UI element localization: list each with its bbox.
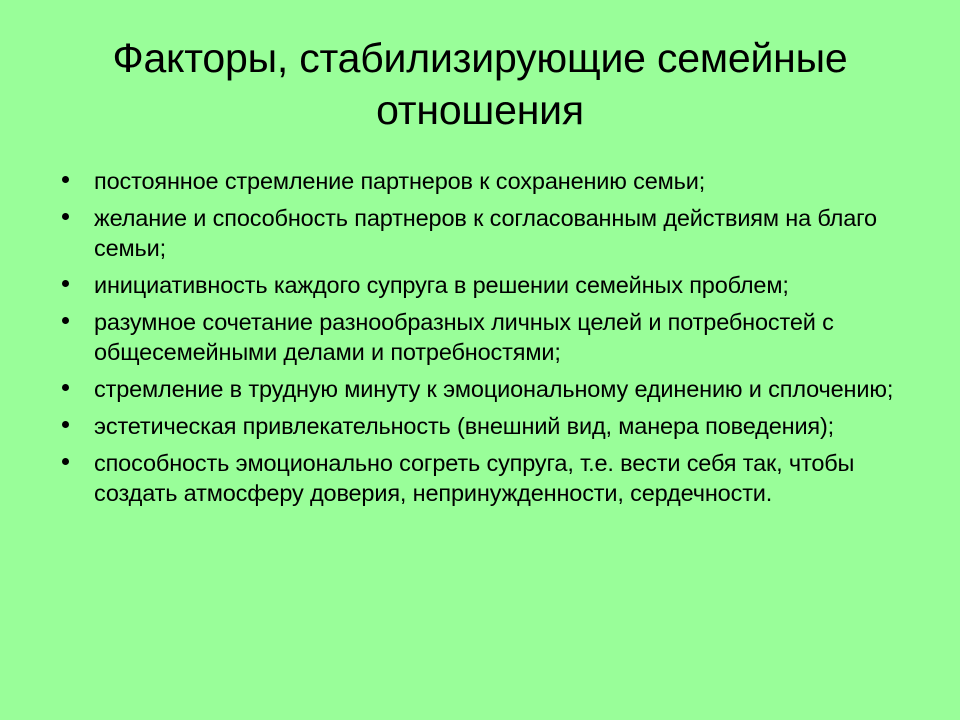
bullet-list: постоянное стремление партнеров к сохран… <box>56 166 912 515</box>
list-item-text: способность эмоционально согреть супруга… <box>94 448 912 508</box>
list-item: желание и способность партнеров к соглас… <box>56 203 912 263</box>
list-item: инициативность каждого супруга в решении… <box>56 270 912 300</box>
bullet-dot-icon <box>62 317 69 324</box>
list-item-text: разумное сочетание разнообразных личных … <box>94 307 912 367</box>
list-item-text: эстетическая привлекательность (внешний … <box>94 411 912 441</box>
list-item-text: инициативность каждого супруга в решении… <box>94 270 912 300</box>
page-title: Факторы, стабилизирующие семейные отноше… <box>40 32 920 136</box>
list-item: постоянное стремление партнеров к сохран… <box>56 166 912 196</box>
list-item: разумное сочетание разнообразных личных … <box>56 307 912 367</box>
list-item-text: желание и способность партнеров к соглас… <box>94 203 912 263</box>
bullet-dot-icon <box>62 384 69 391</box>
list-item: способность эмоционально согреть супруга… <box>56 448 912 508</box>
bullet-dot-icon <box>62 213 69 220</box>
bullet-dot-icon <box>62 421 69 428</box>
list-item: стремление в трудную минуту к эмоциональ… <box>56 374 912 404</box>
bullet-dot-icon <box>62 280 69 287</box>
bullet-dot-icon <box>62 176 69 183</box>
bullet-dot-icon <box>62 458 69 465</box>
presentation-slide: Факторы, стабилизирующие семейные отноше… <box>0 0 960 720</box>
list-item-text: постоянное стремление партнеров к сохран… <box>94 166 912 196</box>
list-item-text: стремление в трудную минуту к эмоциональ… <box>94 374 912 404</box>
list-item: эстетическая привлекательность (внешний … <box>56 411 912 441</box>
